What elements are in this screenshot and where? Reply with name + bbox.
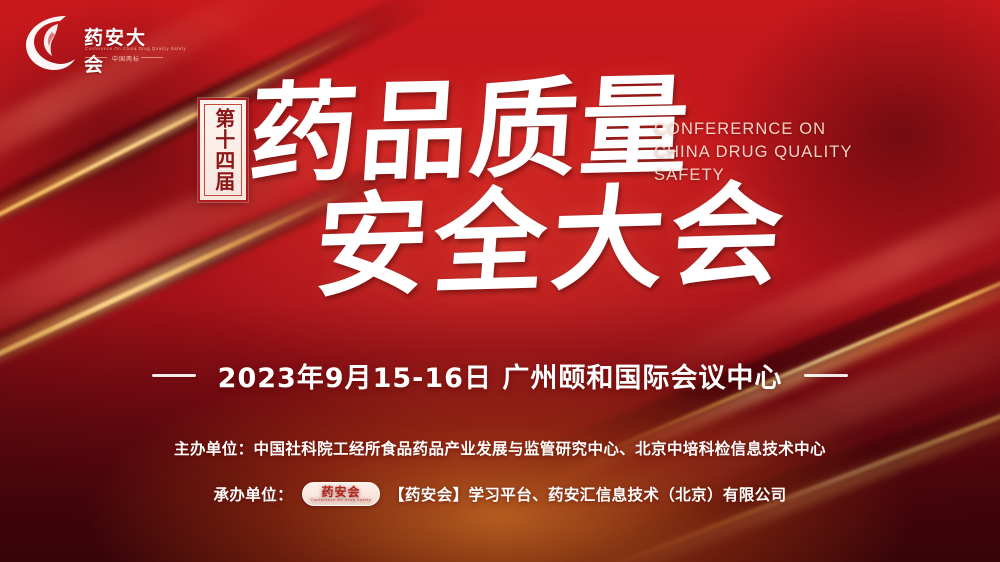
- co-organizer-label: 承办单位：: [213, 483, 293, 505]
- logo-subtitle-cn: 中国两标: [112, 54, 140, 63]
- host-organizer-text: 主办单位：中国社科院工经所食品药品产业发展与监管研究中心、北京中培科检信息技术中…: [174, 437, 826, 459]
- brand-logo: 药安大会 Conference On China Drug Quality Sa…: [22, 10, 162, 76]
- edition-seal: 第十四届: [198, 98, 248, 202]
- logo-rule-right: [141, 57, 163, 58]
- english-subtitle-line-2: CHINA DRUG QUALITY: [654, 141, 853, 164]
- english-subtitle-line-1: CONFERERNCE ON: [654, 118, 853, 141]
- date-venue-row: 2023年9月15-16日 广州颐和国际会议中心: [0, 355, 1000, 395]
- english-subtitle: CONFERERNCE ON CHINA DRUG QUALITY SAFETY: [654, 118, 853, 187]
- yaoanhui-badge: 药安会 Conference On Drug Safety: [302, 482, 380, 506]
- logo-rule-left: [85, 57, 107, 58]
- edition-seal-inner: 第十四届: [204, 104, 242, 196]
- yaoanhui-badge-subtext: Conference On Drug Safety: [311, 498, 372, 503]
- co-organizer-text: 【药安会】学习平台、药安汇信息技术（北京）有限公司: [389, 483, 787, 505]
- date-dash-right-icon: [804, 374, 848, 377]
- english-subtitle-line-3: SAFETY: [654, 164, 853, 187]
- host-organizer-line: 主办单位：中国社科院工经所食品药品产业发展与监管研究中心、北京中培科检信息技术中…: [0, 437, 1000, 459]
- crescent-logo-icon: [22, 12, 84, 74]
- conference-poster: 药安大会 Conference On China Drug Quality Sa…: [0, 0, 1000, 562]
- date-dash-left-icon: [152, 374, 196, 377]
- yaoanhui-badge-text: 药安会: [321, 486, 360, 498]
- date-venue-text: 2023年9月15-16日 广州颐和国际会议中心: [218, 356, 783, 395]
- co-organizer-line: 承办单位： 药安会 Conference On Drug Safety 【药安会…: [0, 482, 1000, 506]
- edition-seal-label: 第十四届: [212, 108, 234, 192]
- logo-subtitle-en: Conference On China Drug Quality Safety: [85, 46, 186, 51]
- organizer-band: 主办单位：中国社科院工经所食品药品产业发展与监管研究中心、北京中培科检信息技术中…: [0, 420, 1000, 530]
- main-title-line-2: 安全大会: [311, 178, 775, 307]
